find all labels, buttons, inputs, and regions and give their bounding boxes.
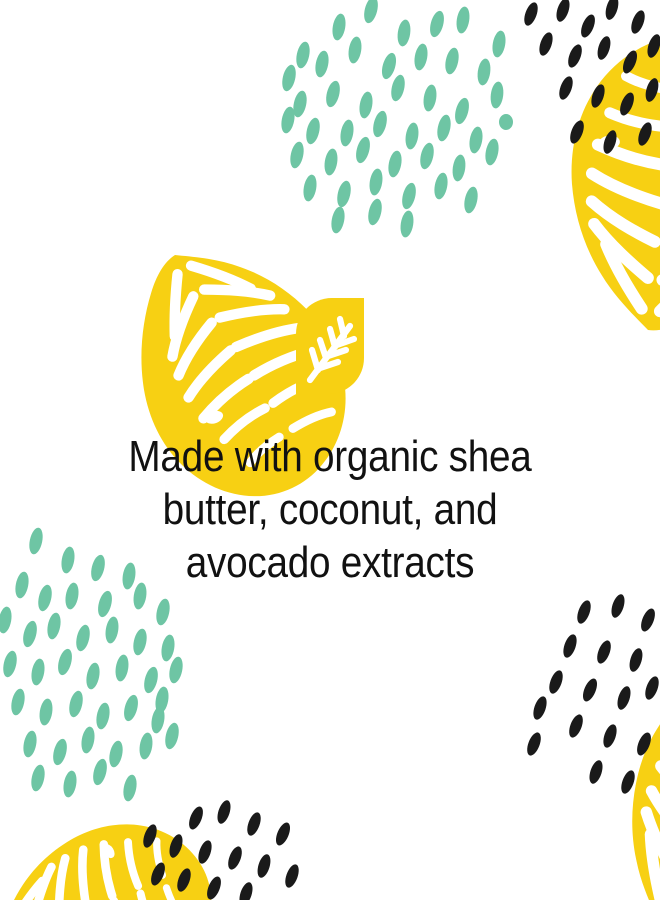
black-dot-cluster-bottom-right: [524, 593, 660, 796]
claim-block: Made with organic shea butter, coconut, …: [0, 296, 660, 589]
monstera-leaf-bottom-right: [576, 628, 660, 900]
teal-dot-cluster-top: [279, 0, 513, 238]
claim-line-3: avocado extracts: [84, 536, 577, 589]
claim-line-1: Made with organic shea: [84, 430, 577, 483]
poster-canvas: Made with organic shea butter, coconut, …: [0, 0, 660, 900]
leaf-icon: [294, 296, 366, 396]
claim-line-2: butter, coconut, and: [84, 483, 577, 536]
claim-text: Made with organic shea butter, coconut, …: [84, 430, 577, 589]
